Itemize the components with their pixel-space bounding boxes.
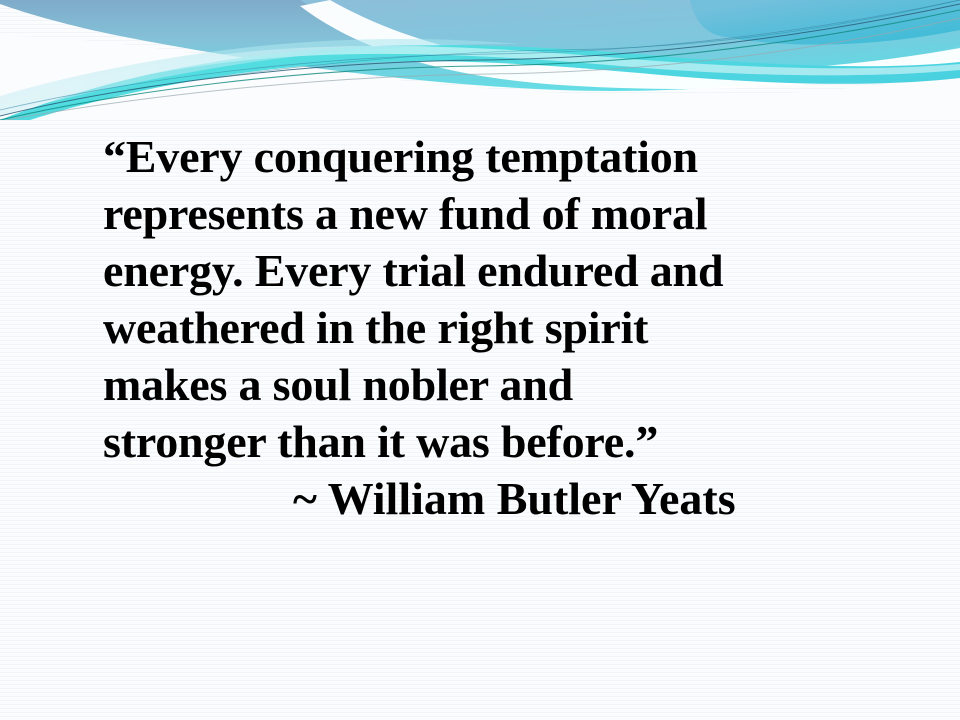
quote-line: makes a soul nobler and [103,356,863,413]
presentation-slide: “Every conquering temptation represents … [0,0,960,720]
quote-line: weathered in the right spirit [103,299,863,356]
quote-attribution: ~ William Butler Yeats [103,470,863,527]
quote-line: energy. Every trial endured and [103,242,863,299]
quote-line: stronger than it was before.” [103,413,863,470]
quote-line: represents a new fund of moral [103,185,863,242]
quote-line: “Every conquering temptation [103,128,863,185]
quote-text-block: “Every conquering temptation represents … [103,128,863,470]
flow-wave-banner-decoration [0,0,960,120]
